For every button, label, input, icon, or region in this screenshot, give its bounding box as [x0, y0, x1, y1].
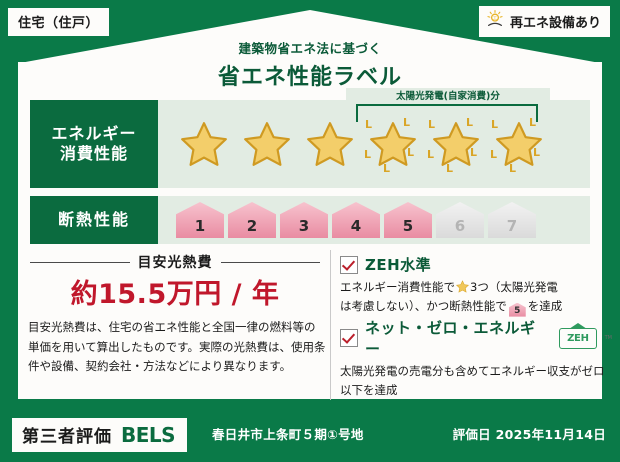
- star-sparkle-icon: L: [466, 117, 473, 128]
- star-sparkle-icon: L: [365, 119, 372, 130]
- zeh-body-part4: を達成: [528, 299, 563, 313]
- star-solar: LLLLL: [489, 113, 549, 175]
- star-icon: [243, 120, 291, 168]
- svg-text:エ: エ: [493, 16, 498, 22]
- property-address: 春日井市上条町５期①号地: [212, 424, 364, 443]
- grade-badge-value: 5: [403, 217, 413, 235]
- grade-badge-2: 2: [228, 202, 276, 238]
- check-item-net-zero-energy: ネット・ゼロ・エネルギー ZEH TM 太陽光発電の売電分も含めてエネルギー収支…: [340, 317, 612, 399]
- bels-badge: 第三者評価 BELS: [12, 418, 187, 452]
- zeh-logo-text: ZEH: [567, 333, 589, 344]
- energy-performance-label: 住宅（住戸） エ 再エネ設備あり 建築物省エネ法に基づく 省エネ性能ラベル: [0, 0, 620, 462]
- grade-badge-6: 6: [436, 202, 484, 238]
- evaluation-date: 評価日 2025年11月14日: [453, 424, 606, 443]
- star-sparkle-icon: L: [407, 147, 414, 158]
- energy-performance-row: エネルギー 消費性能 太陽光発電(自家消費)分 LLLLLLLLLLLLLLL: [30, 100, 590, 188]
- check-item-zeh-level: ZEH水準 エネルギー消費性能で3つ（太陽光発電 は考慮しない）、かつ断熱性能で…: [340, 254, 612, 317]
- energy-row-label-line2: 消費性能: [51, 144, 136, 164]
- star-icon: [306, 120, 354, 168]
- grade-badge-value: 4: [351, 217, 361, 235]
- star-sparkle-icon: L: [533, 147, 540, 158]
- star-sparkle-icon: L: [491, 119, 498, 130]
- star-sparkle-icon: L: [529, 117, 536, 128]
- zeh-level-body: エネルギー消費性能で3つ（太陽光発電 は考慮しない）、かつ断熱性能で5を達成: [340, 278, 612, 317]
- zeh-body-part1: エネルギー消費性能で: [340, 280, 455, 294]
- zeh-logo-trademark: TM: [605, 335, 612, 341]
- energy-row-label: エネルギー 消費性能: [30, 100, 158, 188]
- zeh-level-title: ZEH水準: [365, 254, 431, 275]
- insulation-row-label: 断熱性能: [30, 196, 158, 244]
- star-solar: LLLLL: [426, 113, 486, 175]
- label-title: 建築物省エネ法に基づく 省エネ性能ラベル: [0, 38, 620, 91]
- cost-heading-row: 目安光熱費: [30, 252, 320, 272]
- title-subtitle: 建築物省エネ法に基づく: [0, 38, 620, 57]
- insulation-row-value: 1234567: [158, 196, 590, 244]
- panel-divider: [330, 250, 331, 400]
- star-sparkle-icon: L: [470, 147, 477, 158]
- renewable-chip-label: 再エネ設備あり: [510, 12, 601, 31]
- insulation-performance-row: 断熱性能 1234567: [30, 196, 590, 244]
- grade-badge-1: 1: [176, 202, 224, 238]
- net-zero-title: ネット・ゼロ・エネルギー: [365, 317, 548, 359]
- energy-row-value: 太陽光発電(自家消費)分 LLLLLLLLLLLLLLL: [158, 100, 590, 188]
- star-sparkle-icon: L: [383, 163, 390, 174]
- grade-badge-value: 7: [507, 217, 517, 235]
- grade-badge-5: 5: [384, 202, 432, 238]
- energy-row-label-line1: エネルギー: [51, 124, 136, 144]
- star-sparkle-icon: L: [446, 163, 453, 174]
- sun-icon: エ: [485, 9, 505, 33]
- third-party-label: 第三者評価: [22, 422, 112, 447]
- zeh-house-logo-icon: ZEH: [559, 328, 596, 349]
- zeh-body-part2: 3つ（太陽光発電: [470, 280, 558, 294]
- zeh-level-heading: ZEH水準: [340, 254, 612, 275]
- star-sparkle-icon: L: [364, 149, 371, 160]
- star-rating: LLLLLLLLLLLLLLL: [158, 113, 549, 175]
- cost-rule-left: [30, 262, 130, 263]
- cost-heading-label: 目安光熱費: [138, 252, 213, 272]
- bels-logo-text: BELS: [121, 423, 175, 447]
- building-type-chip: 住宅（住戸）: [8, 8, 109, 36]
- cost-disclaimer: 目安光熱費は、住宅の省エネ性能と全国一律の燃料等の単価を用いて算出したものです。…: [28, 318, 326, 377]
- star-sparkle-icon: L: [427, 149, 434, 160]
- star-solar: LLLLL: [363, 113, 423, 175]
- star-icon: [180, 120, 228, 168]
- star-base: [300, 113, 360, 175]
- net-zero-body: 太陽光発電の売電分も含めてエネルギー収支がゼロ以下を達成: [340, 362, 612, 399]
- zeh-body-part3: は考慮しない）、かつ断熱性能で: [340, 299, 507, 313]
- grade-badge-7: 7: [488, 202, 536, 238]
- checkbox-checked-icon: [340, 329, 358, 347]
- inline-star-icon: [456, 280, 469, 293]
- grade-badge-3: 3: [280, 202, 328, 238]
- checkbox-checked-icon: [340, 256, 358, 274]
- cost-value: 約15.5万円 / 年: [30, 272, 320, 311]
- grade-badge-list: 1234567: [158, 202, 536, 238]
- star-base: [174, 113, 234, 175]
- cost-rule-right: [221, 262, 321, 263]
- grade-badge-value: 3: [299, 217, 309, 235]
- star-base: [237, 113, 297, 175]
- inline-grade-badge: 5: [509, 303, 526, 317]
- renewable-equipment-chip: エ 再エネ設備あり: [479, 6, 610, 37]
- title-main: 省エネ性能ラベル: [0, 59, 620, 91]
- grade-badge-value: 6: [455, 217, 465, 235]
- star-sparkle-icon: L: [428, 119, 435, 130]
- star-sparkle-icon: L: [490, 149, 497, 160]
- star-sparkle-icon: L: [509, 163, 516, 174]
- grade-badge-value: 1: [195, 217, 205, 235]
- grade-badge-value: 2: [247, 217, 257, 235]
- star-sparkle-icon: L: [403, 117, 410, 128]
- net-zero-heading: ネット・ゼロ・エネルギー ZEH TM: [340, 317, 612, 359]
- grade-badge-4: 4: [332, 202, 380, 238]
